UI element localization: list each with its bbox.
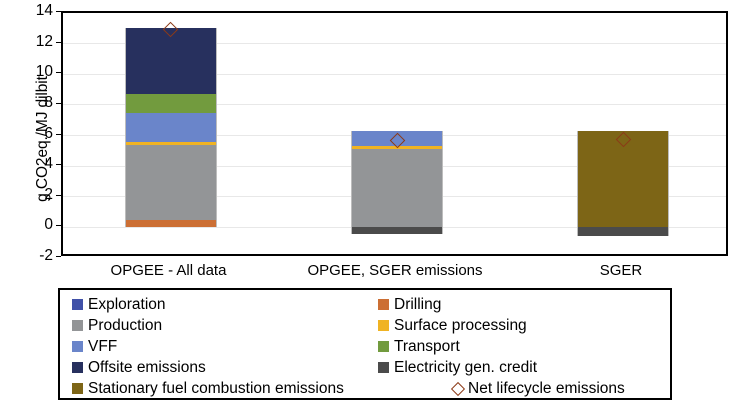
legend-label: Electricity gen. credit [394, 360, 537, 376]
bar-stack[interactable] [125, 13, 217, 258]
legend-color-swatch [378, 341, 389, 352]
legend-color-swatch [72, 299, 83, 310]
chart-legend: ExplorationDrillingProductionSurface pro… [58, 288, 672, 400]
legend-label: Exploration [88, 297, 166, 313]
legend-item[interactable]: Surface processing [378, 315, 527, 336]
y-axis-tick-label: 4 [13, 156, 53, 172]
legend-label: Surface processing [394, 318, 527, 334]
y-axis-tick-label: 2 [13, 187, 53, 203]
legend-item[interactable]: Offsite emissions [72, 357, 206, 378]
legend-item[interactable]: Drilling [378, 294, 441, 315]
y-axis-tick-mark [56, 256, 61, 257]
bar-segment[interactable] [125, 220, 217, 227]
legend-color-swatch [72, 341, 83, 352]
legend-label: Drilling [394, 297, 441, 313]
legend-label: Net lifecycle emissions [468, 381, 625, 397]
legend-color-swatch [378, 299, 389, 310]
y-axis-tick-label: 12 [13, 34, 53, 50]
legend-row: ProductionSurface processing [60, 315, 670, 336]
bar-segment[interactable] [577, 227, 669, 235]
legend-color-swatch [72, 383, 83, 394]
legend-item[interactable]: VFF [72, 336, 117, 357]
y-axis-tick-label: 0 [13, 217, 53, 233]
y-axis-tick-label: 6 [13, 126, 53, 142]
legend-color-swatch [378, 362, 389, 373]
bar-segment[interactable] [351, 227, 443, 234]
legend-label: Offsite emissions [88, 360, 206, 376]
bar-segment[interactable] [351, 149, 443, 227]
legend-color-swatch [378, 320, 389, 331]
legend-label: Production [88, 318, 162, 334]
bar-segment[interactable] [125, 145, 217, 220]
x-axis-tick-label: SGER [481, 262, 736, 279]
chart-figure: g CO2eq./MJ dilbit 14121086420-2 OPGEE -… [0, 0, 736, 411]
legend-color-swatch [72, 362, 83, 373]
legend-item[interactable]: Production [72, 315, 162, 336]
y-axis-tick-label: 10 [13, 64, 53, 80]
legend-item[interactable]: Transport [378, 336, 460, 357]
legend-color-swatch [72, 320, 83, 331]
y-axis-tick-label: 8 [13, 95, 53, 111]
legend-item[interactable]: Exploration [72, 294, 166, 315]
legend-label: Transport [394, 339, 460, 355]
legend-row: Offsite emissionsElectricity gen. credit [60, 357, 670, 378]
legend-item[interactable]: Stationary fuel combustion emissions [72, 378, 344, 399]
legend-row: Stationary fuel combustion emissionsNet … [60, 378, 670, 399]
bar-segment[interactable] [125, 113, 217, 142]
y-axis-tick-label: 14 [13, 3, 53, 19]
legend-item[interactable]: Net lifecycle emissions [452, 378, 625, 399]
bar-segment[interactable] [125, 94, 217, 112]
legend-item[interactable]: Electricity gen. credit [378, 357, 537, 378]
legend-row: ExplorationDrilling [60, 294, 670, 315]
legend-diamond-marker-icon [452, 383, 463, 394]
legend-label: Stationary fuel combustion emissions [88, 381, 344, 397]
legend-row: VFFTransport [60, 336, 670, 357]
legend-label: VFF [88, 339, 117, 355]
bar-segment[interactable] [125, 28, 217, 94]
bar-segment[interactable] [125, 142, 217, 146]
plot-area [61, 11, 728, 256]
